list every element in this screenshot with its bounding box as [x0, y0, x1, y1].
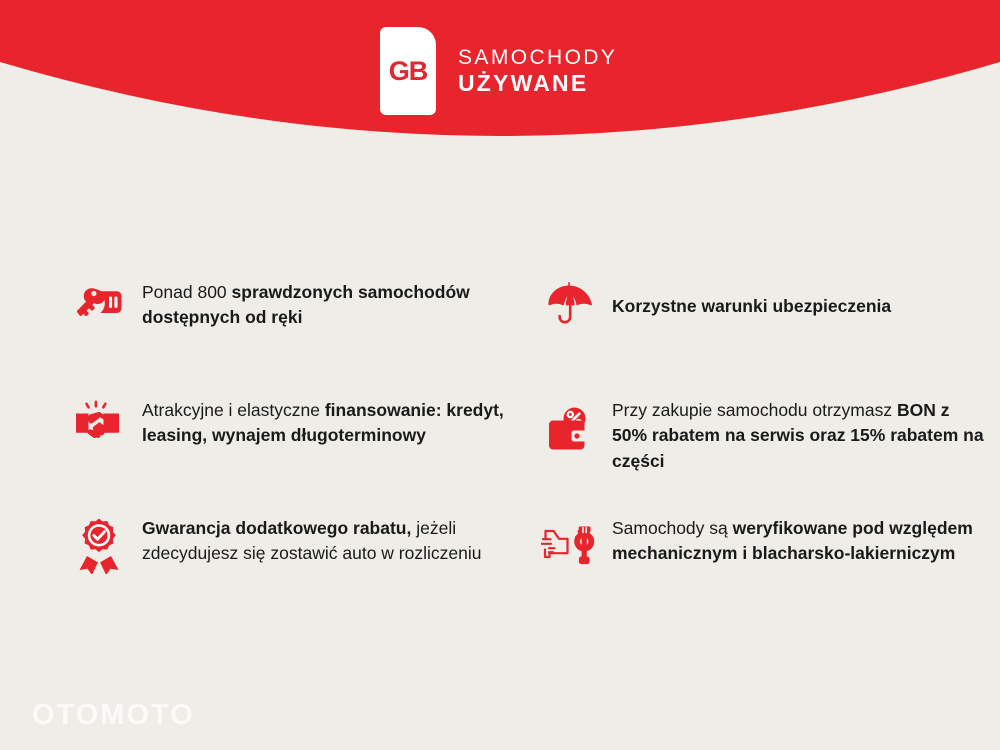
- brand-wordmark: SAMOCHODY UŻYWANE: [458, 47, 617, 95]
- feature-text: Atrakcyjne i elastyczne finansowanie: kr…: [142, 396, 514, 449]
- feature-text-bold: Korzystne warunki ubezpieczenia: [612, 296, 891, 316]
- feature-text-regular: Przy zakupie samochodu otrzymasz: [612, 400, 897, 420]
- feature-item-insurance: Korzystne warunki ubezpieczenia: [540, 278, 1000, 396]
- handshake-icon: [70, 400, 128, 458]
- feature-text-regular: Samochody są: [612, 518, 733, 538]
- feature-text: Ponad 800 sprawdzonych samochodów dostęp…: [142, 278, 514, 331]
- feature-text-regular: Atrakcyjne i elastyczne: [142, 400, 325, 420]
- feature-item-voucher: Przy zakupie samochodu otrzymasz BON z 5…: [540, 396, 1000, 514]
- otomoto-watermark: OTOMOTO: [32, 699, 195, 732]
- feature-list: Ponad 800 sprawdzonych samochodów dostęp…: [0, 278, 1000, 632]
- brand-wordmark-line1: SAMOCHODY: [458, 47, 617, 69]
- feature-item-cars-available: Ponad 800 sprawdzonych samochodów dostęp…: [70, 278, 530, 396]
- feature-text-bold: Gwarancja dodatkowego rabatu,: [142, 518, 411, 538]
- brand-logo: GB SAMOCHODY UŻYWANE: [380, 26, 617, 116]
- umbrella-icon: [540, 280, 598, 338]
- feature-text: Korzystne warunki ubezpieczenia: [612, 278, 891, 319]
- key-tag-icon: [70, 284, 128, 342]
- brand-mark-icon: GB: [380, 27, 436, 115]
- feature-text: Samochody są weryfikowane pod względem m…: [612, 514, 984, 567]
- brand-mark-text: GB: [389, 56, 428, 87]
- feature-item-financing: Atrakcyjne i elastyczne finansowanie: kr…: [70, 396, 530, 514]
- award-badge-icon: [70, 516, 128, 574]
- feature-text: Przy zakupie samochodu otrzymasz BON z 5…: [612, 396, 984, 474]
- feature-text: Gwarancja dodatkowego rabatu, jeżeli zde…: [142, 514, 514, 567]
- feature-text-regular: Ponad 800: [142, 282, 232, 302]
- feature-item-verification: Samochody są weryfikowane pod względem m…: [540, 514, 1000, 632]
- wallet-percent-icon: [540, 406, 598, 464]
- feature-item-guarantee: Gwarancja dodatkowego rabatu, jeżeli zde…: [70, 514, 530, 632]
- car-wrench-icon: [540, 518, 598, 576]
- brand-wordmark-line2: UŻYWANE: [458, 71, 617, 95]
